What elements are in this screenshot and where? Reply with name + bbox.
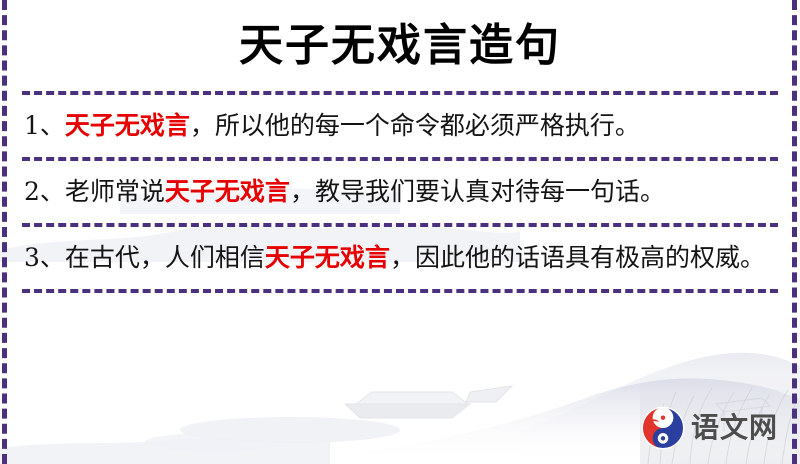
sentence-text-after-3: ，因此他的话语具有极高的权威。 [390,243,765,272]
sentence-item-1: 1、天子无戏言，所以他的每一个命令都必须严格执行。 [22,95,778,157]
sentence-number-2: 2、 [24,177,65,206]
sentence-text-before-3: 在古代，人们相信 [65,243,265,272]
sentence-card-page: 天子无戏言造句 1、天子无戏言，所以他的每一个命令都必须严格执行。 2、老师常说… [0,0,800,464]
content-column: 天子无戏言造句 1、天子无戏言，所以他的每一个命令都必须严格执行。 2、老师常说… [0,0,800,464]
sentence-highlight-1: 天子无戏言 [65,111,190,140]
sentence-highlight-2: 天子无戏言 [165,177,290,206]
yin-yang-fish-icon [641,406,685,450]
sentence-text-before-2: 老师常说 [65,177,165,206]
sentence-item-2: 2、老师常说天子无戏言，教导我们要认真对待每一句话。 [22,161,778,223]
site-logo: 语文网 [641,406,778,450]
sentence-highlight-3: 天子无戏言 [265,243,390,272]
sentence-text-after-2: ，教导我们要认真对待每一句话。 [290,177,665,206]
site-logo-text: 语文网 [691,414,778,442]
sentence-text-after-1: ，所以他的每一个命令都必须严格执行。 [190,111,640,140]
page-title: 天子无戏言造句 [22,0,778,81]
sentence-number-1: 1、 [24,111,65,140]
sentence-number-3: 3、 [24,243,65,272]
sentence-item-3: 3、在古代，人们相信天子无戏言，因此他的话语具有极高的权威。 [22,227,778,289]
divider-bottom [22,289,778,293]
